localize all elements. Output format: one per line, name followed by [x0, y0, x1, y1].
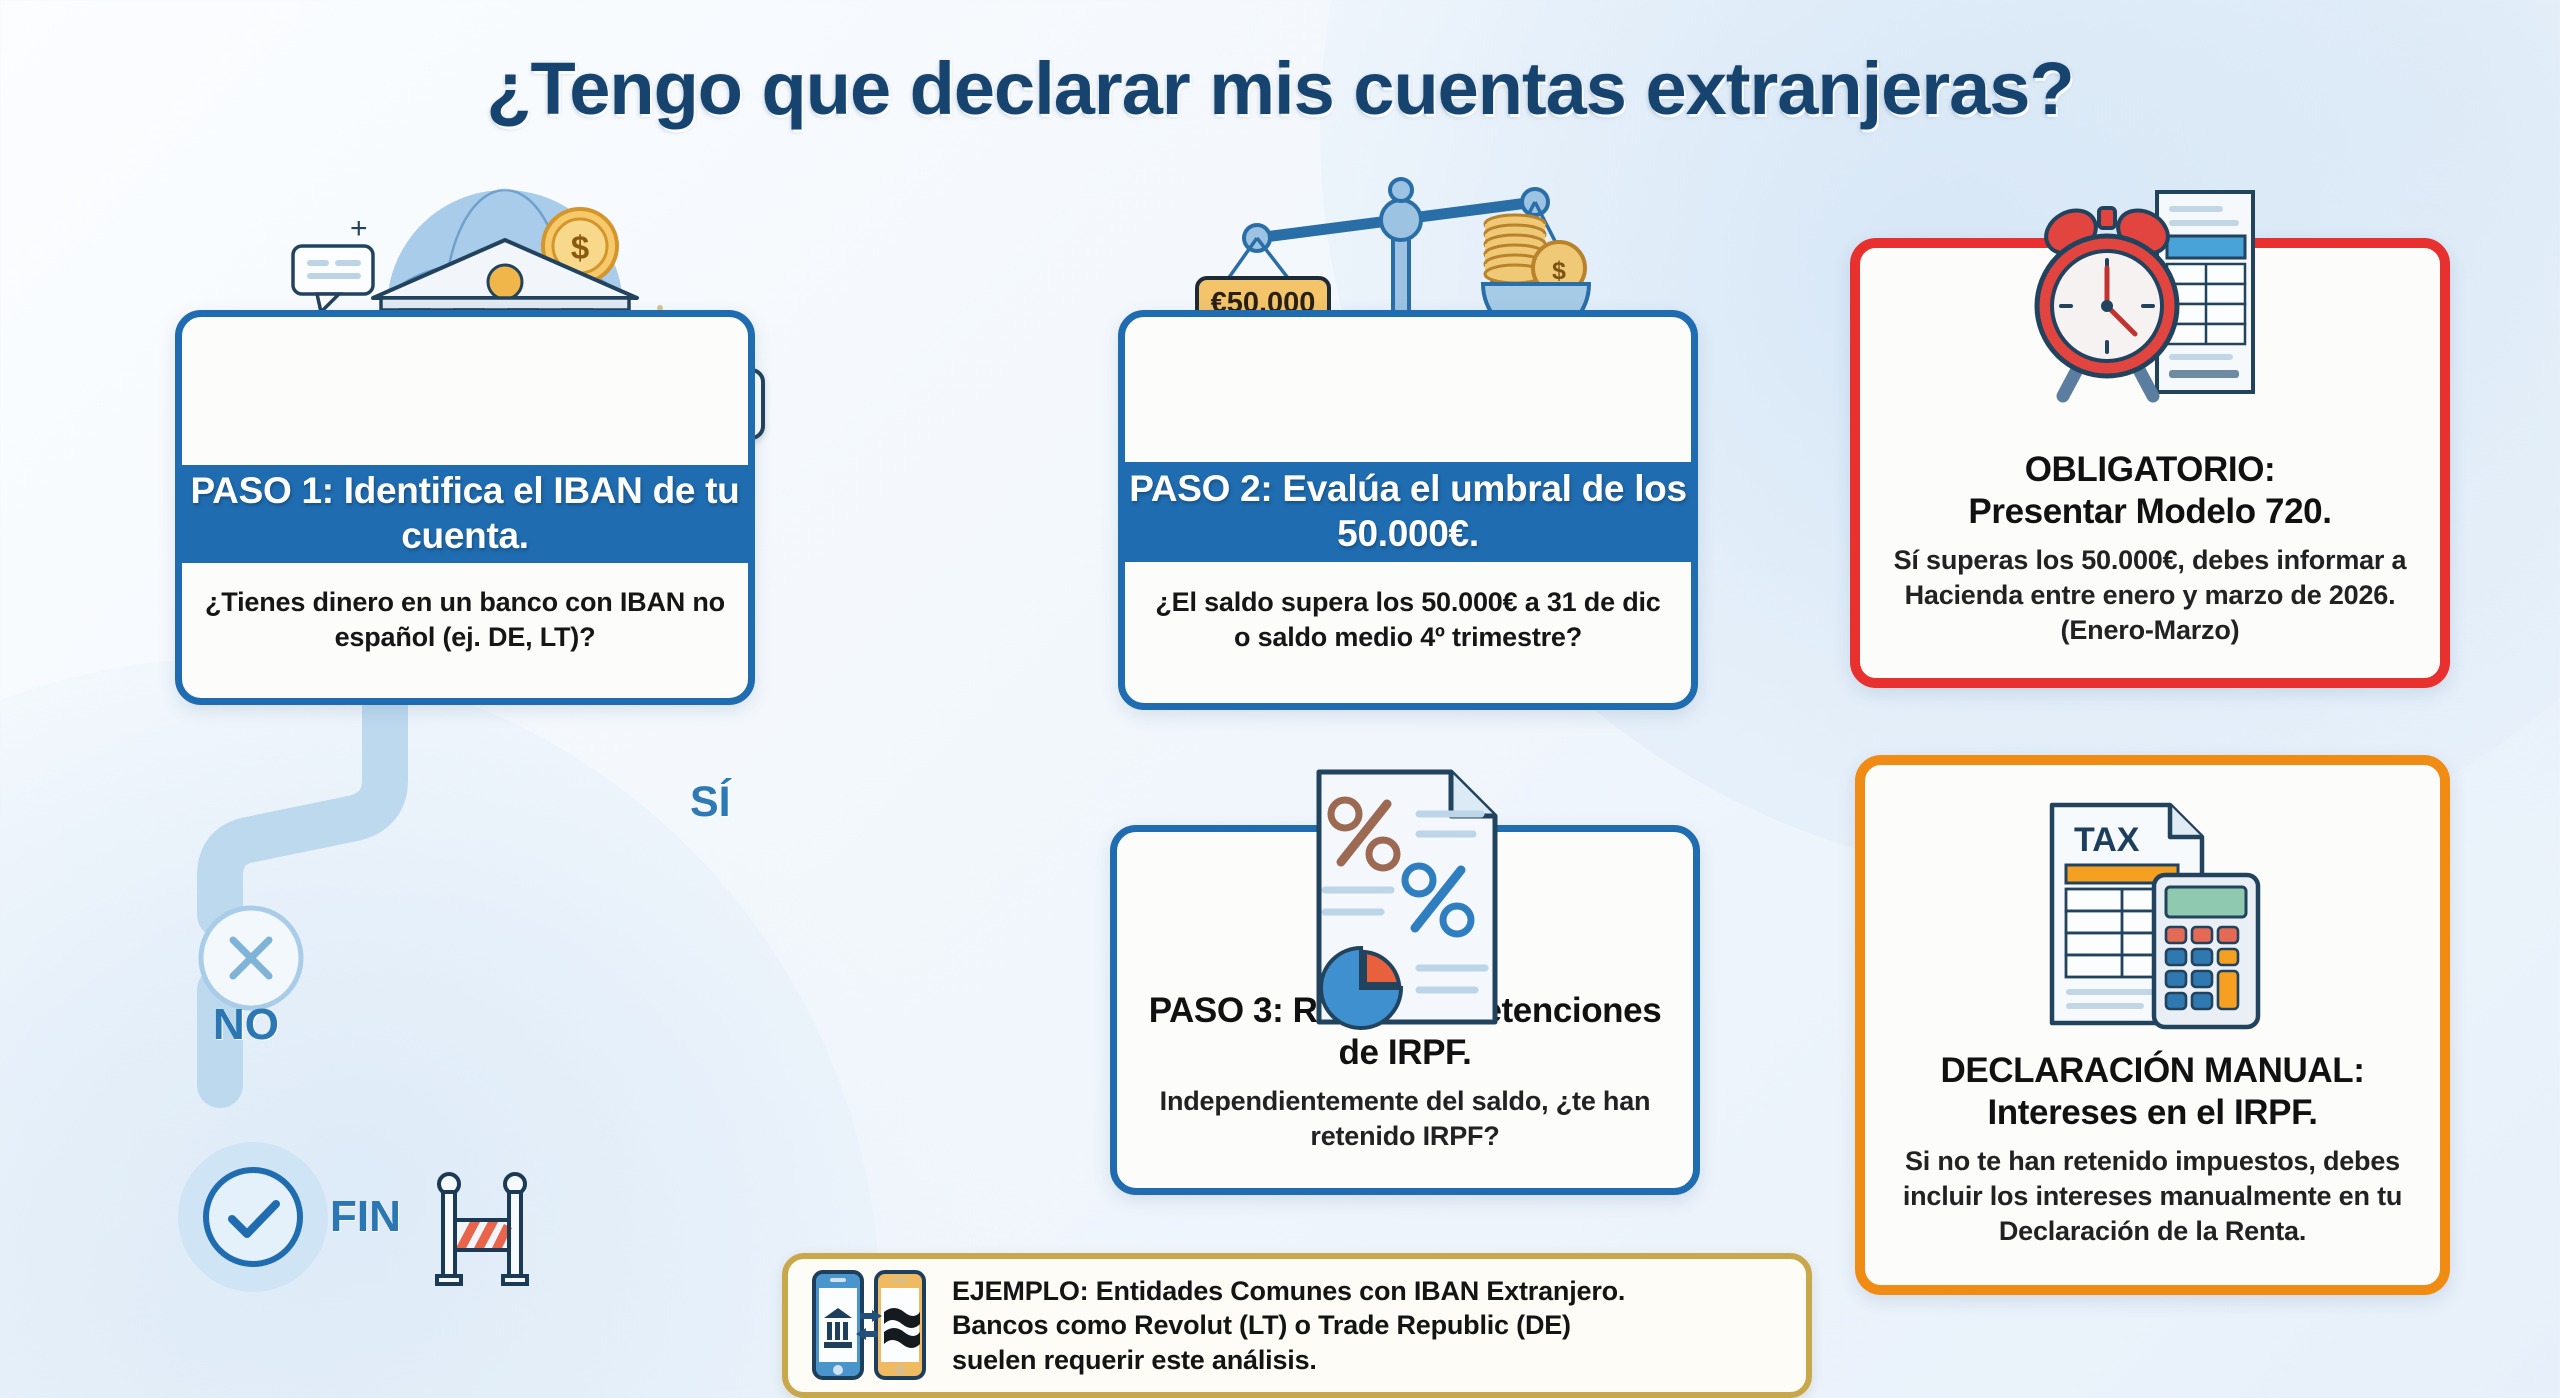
- step-card-3[interactable]: PASO 3: Revisa las retenciones de IRPF. …: [1110, 825, 1700, 1195]
- example-lead-label: EJEMPLO:: [952, 1276, 1088, 1306]
- example-line-3: suelen requerir este análisis.: [952, 1343, 1625, 1378]
- alarm-clock-form-illustration: [2015, 184, 2285, 444]
- step-card-1-band: PASO 1: Identifica el IBAN de tu cuenta.: [175, 465, 755, 563]
- step-card-1[interactable]: PASO 1: Identifica el IBAN de tu cuenta.…: [175, 310, 755, 705]
- flow-end-label: FIN: [330, 1192, 401, 1242]
- page-title: ¿Tengo que declarar mis cuentas extranje…: [0, 46, 2560, 131]
- example-callout[interactable]: EJEMPLO: Entidades Comunes con IBAN Extr…: [782, 1253, 1812, 1398]
- step-card-3-question: Independientemente del saldo, ¿te han re…: [1141, 1084, 1669, 1154]
- svg-text:+: +: [350, 212, 368, 245]
- example-line-2: Bancos como Revolut (LT) o Trade Republi…: [952, 1308, 1625, 1343]
- x-circle-icon: [193, 900, 309, 1016]
- outcome-card-obligatorio[interactable]: OBLIGATORIO: Presentar Modelo 720. Sí su…: [1850, 238, 2450, 688]
- outcome-manual-heading-1: DECLARACIÓN MANUAL:: [1940, 1050, 2364, 1092]
- tax-form-calculator-illustration: TAX: [2028, 799, 2278, 1039]
- tax-form-label: TAX: [2074, 821, 2140, 859]
- flow-no-label: NO: [213, 1000, 279, 1050]
- svg-text:$: $: [1552, 257, 1566, 285]
- step-card-2[interactable]: PASO 2: Evalúa el umbral de los 50.000€.…: [1118, 310, 1698, 710]
- step-card-2-question: ¿El saldo supera los 50.000€ a 31 de dic…: [1125, 569, 1691, 664]
- outcome-obligatorio-heading-2: Presentar Modelo 720.: [1968, 491, 2331, 533]
- svg-text:$: $: [571, 229, 589, 266]
- outcome-manual-heading-2: Intereses en el IRPF.: [1987, 1092, 2317, 1134]
- example-line-1: EJEMPLO: Entidades Comunes con IBAN Extr…: [952, 1274, 1625, 1309]
- check-circle-icon: [198, 1162, 308, 1272]
- two-phones-exchange-icon: [810, 1268, 930, 1383]
- outcome-obligatorio-body: Sí superas los 50.000€, debes informar a…: [1886, 543, 2414, 648]
- step-card-1-question: ¿Tienes dinero en un banco con IBAN no e…: [182, 569, 748, 664]
- outcome-card-declaracion-manual[interactable]: TAX DEC: [1855, 755, 2450, 1295]
- flow-yes-label: SÍ: [690, 778, 731, 827]
- percent-document-illustration: [1295, 762, 1515, 1032]
- example-line-1-rest: Entidades Comunes con IBAN Extranjero.: [1088, 1276, 1625, 1306]
- outcome-manual-body: Si no te han retenido impuestos, debes i…: [1891, 1144, 2414, 1249]
- outcome-obligatorio-heading-1: OBLIGATORIO:: [2025, 449, 2276, 491]
- road-barrier-icon: [432, 1172, 532, 1288]
- step-card-2-band: PASO 2: Evalúa el umbral de los 50.000€.: [1118, 462, 1698, 562]
